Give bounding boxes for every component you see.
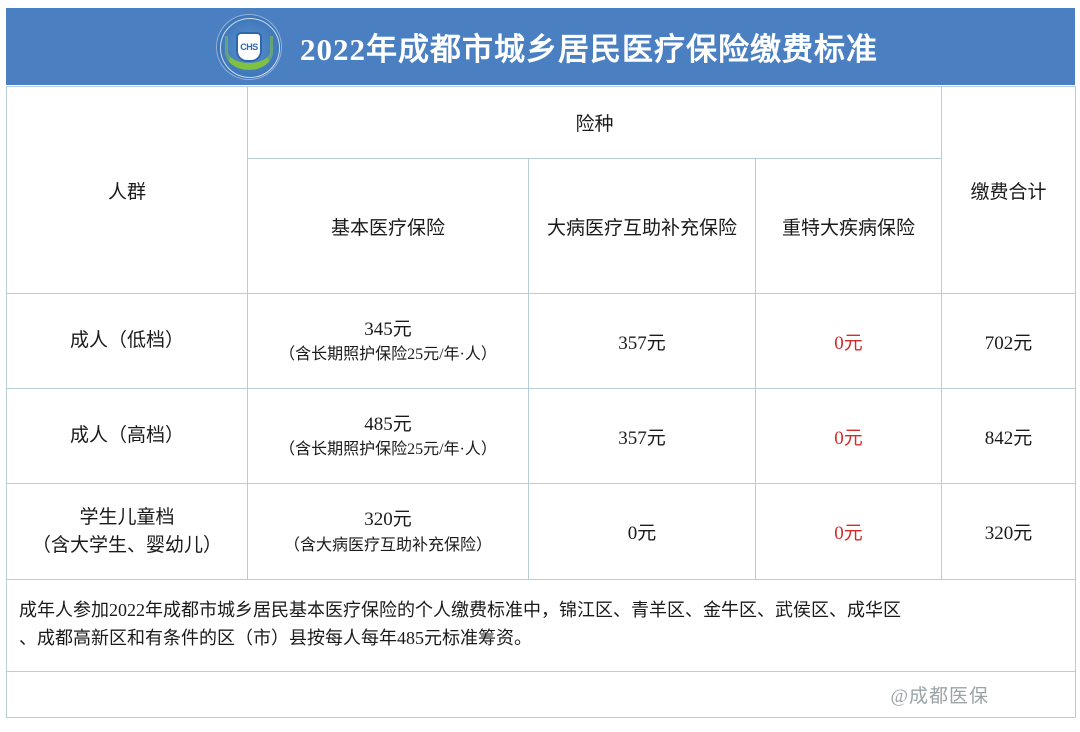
cell-critical-illness: 0元 <box>756 389 942 484</box>
table-row: 成人（低档） 345元 （含长期照护保险25元/年·人） 357元 0元 702… <box>7 294 1076 389</box>
column-header-total: 缴费合计 <box>942 87 1076 294</box>
cell-population: 成人（低档） <box>7 294 248 389</box>
cell-basic-medical-amount: 345元 <box>252 316 524 344</box>
watermark-cell: @成都医保 <box>7 672 1076 718</box>
column-header-population: 人群 <box>7 87 248 294</box>
cell-basic-medical: 345元 （含长期照护保险25元/年·人） <box>248 294 529 389</box>
cell-population: 成人（高档） <box>7 389 248 484</box>
emblem-shield: CHS <box>238 34 260 60</box>
footnote-line-1: 成年人参加2022年成都市城乡居民基本医疗保险的个人缴费标准中，锦江区、青羊区、… <box>19 597 1063 625</box>
document-header-banner: CHS 2022年成都市城乡居民医疗保险缴费标准 <box>6 8 1075 85</box>
cell-population-main: 学生儿童档 <box>11 504 243 532</box>
cell-basic-medical: 485元 （含长期照护保险25元/年·人） <box>248 389 529 484</box>
table-header-row-group: 人群 险种 缴费合计 <box>7 87 1076 159</box>
column-header-insurance-group: 险种 <box>248 87 942 159</box>
footnote-cell: 成年人参加2022年成都市城乡居民基本医疗保险的个人缴费标准中，锦江区、青羊区、… <box>7 580 1076 672</box>
chengdu-healthcare-security-emblem-icon: CHS <box>216 14 282 80</box>
cell-total: 320元 <box>942 484 1076 580</box>
cell-population-sub: （含大学生、婴幼儿） <box>11 532 243 560</box>
cell-major-illness: 357元 <box>529 389 756 484</box>
page-title: 2022年成都市城乡居民医疗保险缴费标准 <box>300 24 878 69</box>
watermark: @成都医保 <box>891 686 990 707</box>
table-body: 成人（低档） 345元 （含长期照护保险25元/年·人） 357元 0元 702… <box>7 294 1076 718</box>
column-header-critical-illness: 重特大疾病保险 <box>756 159 942 294</box>
table-row: 学生儿童档 （含大学生、婴幼儿） 320元 （含大病医疗互助补充保险） 0元 0… <box>7 484 1076 580</box>
column-header-major-illness: 大病医疗互助补充保险 <box>529 159 756 294</box>
cell-critical-illness: 0元 <box>756 294 942 389</box>
cell-basic-medical: 320元 （含大病医疗互助补充保险） <box>248 484 529 580</box>
payment-standards-table: 人群 险种 缴费合计 基本医疗保险 大病医疗互助补充保险 重特大疾病保险 成人（… <box>6 86 1076 718</box>
cell-basic-medical-amount: 485元 <box>252 411 524 439</box>
emblem-monogram: CHS <box>240 42 258 52</box>
watermark-row: @成都医保 <box>7 672 1076 718</box>
footnote-row: 成年人参加2022年成都市城乡居民基本医疗保险的个人缴费标准中，锦江区、青羊区、… <box>7 580 1076 672</box>
cell-basic-medical-amount: 320元 <box>252 506 524 534</box>
footnote-line-2: 、成都高新区和有条件的区（市）县按每人每年485元标准筹资。 <box>19 625 1063 653</box>
column-header-basic-medical: 基本医疗保险 <box>248 159 529 294</box>
cell-major-illness: 357元 <box>529 294 756 389</box>
cell-population: 学生儿童档 （含大学生、婴幼儿） <box>7 484 248 580</box>
table-header: 人群 险种 缴费合计 基本医疗保险 大病医疗互助补充保险 重特大疾病保险 <box>7 87 1076 294</box>
table-row: 成人（高档） 485元 （含长期照护保险25元/年·人） 357元 0元 842… <box>7 389 1076 484</box>
cell-total: 842元 <box>942 389 1076 484</box>
cell-basic-medical-note: （含大病医疗互助补充保险） <box>252 534 524 557</box>
insurance-standards-document: CHS 2022年成都市城乡居民医疗保险缴费标准 人群 险种 缴费合计 基本医疗… <box>0 0 1080 732</box>
cell-basic-medical-note: （含长期照护保险25元/年·人） <box>252 343 524 366</box>
cell-total: 702元 <box>942 294 1076 389</box>
cell-basic-medical-note: （含长期照护保险25元/年·人） <box>252 438 524 461</box>
cell-critical-illness: 0元 <box>756 484 942 580</box>
cell-major-illness: 0元 <box>529 484 756 580</box>
